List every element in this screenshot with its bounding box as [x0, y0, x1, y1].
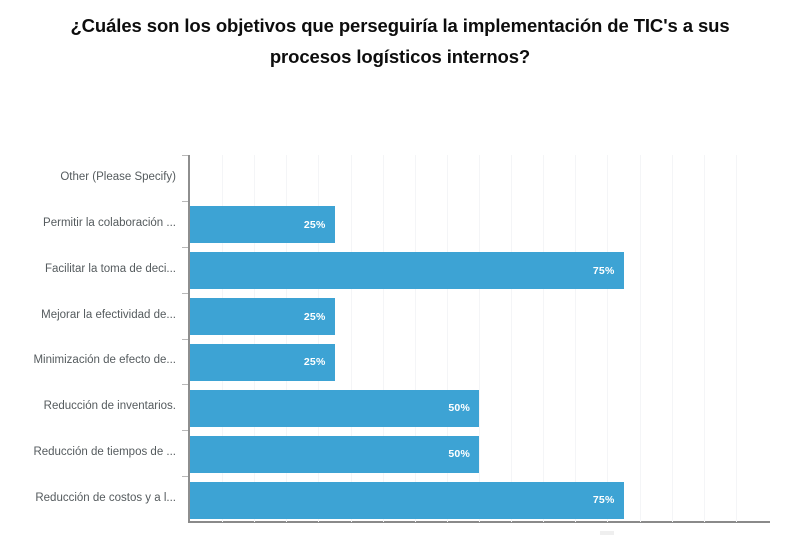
y-axis-label: Reducción de tiempos de ... — [33, 446, 176, 459]
y-axis-tick — [182, 293, 188, 294]
y-axis-label: Minimización de efecto de... — [33, 354, 176, 367]
y-axis-tick — [182, 201, 188, 202]
y-axis-label: Other (Please Specify) — [60, 171, 176, 184]
cutoff-artifact — [600, 531, 614, 535]
bar[interactable]: 25% — [190, 298, 335, 335]
gridline — [704, 155, 705, 522]
y-axis-label: Reducción de costos y a l... — [35, 492, 176, 505]
y-axis-tick — [182, 476, 188, 477]
y-axis-tick — [182, 430, 188, 431]
y-axis-tick — [182, 384, 188, 385]
y-axis-tick — [182, 155, 188, 156]
gridline — [607, 155, 608, 522]
bar-value-label: 50% — [448, 448, 470, 460]
y-axis-label: Reducción de inventarios. — [44, 400, 176, 413]
bar[interactable]: 50% — [190, 390, 479, 427]
bar[interactable]: 25% — [190, 344, 335, 381]
gridline — [672, 155, 673, 522]
chart-title: ¿Cuáles son los objetivos que perseguirí… — [30, 10, 770, 72]
bar-value-label: 25% — [304, 219, 326, 231]
gridline — [543, 155, 544, 522]
bar[interactable]: 75% — [190, 482, 624, 519]
gridline — [640, 155, 641, 522]
bar-value-label: 75% — [593, 265, 615, 277]
gridline — [736, 155, 737, 522]
bar[interactable]: 25% — [190, 206, 335, 243]
bar-value-label: 50% — [448, 402, 470, 414]
y-axis-tick — [182, 247, 188, 248]
plot-area: 25%75%25%25%50%50%75% — [190, 155, 768, 522]
bar-value-label: 25% — [304, 356, 326, 368]
y-axis-label: Mejorar la efectividad de... — [41, 309, 176, 322]
bar[interactable]: 50% — [190, 436, 479, 473]
y-axis-tick — [182, 339, 188, 340]
bar-value-label: 75% — [593, 494, 615, 506]
y-axis-label: Permitir la colaboración ... — [43, 217, 176, 230]
y-axis-label: Facilitar la toma de deci... — [45, 263, 176, 276]
chart-title-line-2: procesos logísticos internos? — [270, 46, 530, 67]
chart-title-line-1: ¿Cuáles son los objetivos que perseguirí… — [70, 15, 729, 36]
bar-value-label: 25% — [304, 311, 326, 323]
bar-chart: ¿Cuáles son los objetivos que perseguirí… — [0, 0, 800, 543]
gridline — [575, 155, 576, 522]
gridline — [479, 155, 480, 522]
bar[interactable]: 75% — [190, 252, 624, 289]
gridline — [511, 155, 512, 522]
y-axis-labels: Other (Please Specify)Permitir la colabo… — [0, 155, 184, 522]
